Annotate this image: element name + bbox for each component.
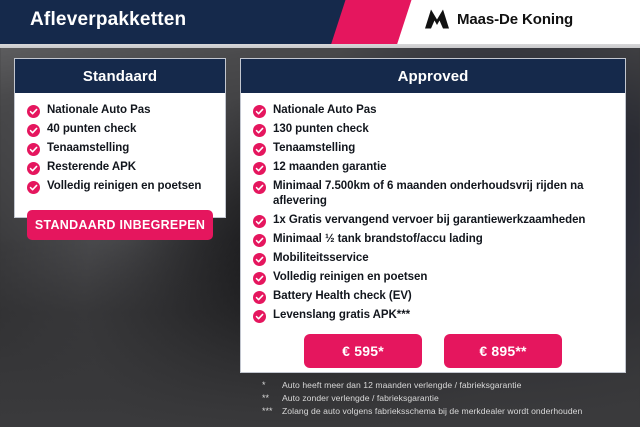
list-item: Nationale Auto Pas: [27, 103, 215, 118]
card-standaard-title: Standaard: [83, 68, 157, 85]
brand-name: Maas-De Koning: [457, 11, 573, 28]
footnote-row: *** Zolang de auto volgens fabrieksschem…: [262, 405, 632, 417]
list-item: Levenslang gratis APK***: [253, 308, 615, 323]
maas-de-koning-m-logo-icon: [425, 9, 449, 29]
check-circle-icon: [27, 105, 40, 118]
page-title: Afleverpakketten: [30, 9, 186, 31]
check-circle-icon: [253, 181, 266, 194]
list-item: 1x Gratis vervangend vervoer bij garanti…: [253, 213, 615, 228]
check-circle-icon: [253, 253, 266, 266]
check-circle-icon: [27, 124, 40, 137]
list-item: 12 maanden garantie: [253, 160, 615, 175]
list-item-label: Minimaal ½ tank brandstof/accu lading: [273, 232, 483, 247]
list-item: Tenaamstelling: [253, 141, 615, 156]
footnote-text: Auto heeft meer dan 12 maanden verlengde…: [282, 379, 521, 391]
check-circle-icon: [253, 143, 266, 156]
check-circle-icon: [253, 162, 266, 175]
list-item-label: Minimaal 7.500km of 6 maanden onderhouds…: [273, 179, 615, 209]
check-circle-icon: [253, 272, 266, 285]
list-item-label: Volledig reinigen en poetsen: [47, 179, 201, 194]
standaard-inbegrepen-button[interactable]: STANDAARD INBEGREPEN: [27, 210, 213, 240]
price-button-895[interactable]: € 895**: [444, 334, 562, 368]
card-approved-title: Approved: [398, 68, 469, 85]
approved-feature-list: Nationale Auto Pas 130 punten check Tena…: [241, 103, 625, 323]
list-item-label: Battery Health check (EV): [273, 289, 412, 304]
check-circle-icon: [253, 310, 266, 323]
standaard-feature-list: Nationale Auto Pas 40 punten check Tenaa…: [15, 103, 225, 194]
check-circle-icon: [253, 234, 266, 247]
footnote-row: * Auto heeft meer dan 12 maanden verleng…: [262, 379, 632, 391]
check-circle-icon: [27, 143, 40, 156]
footnote-text: Auto zonder verlengde / fabrieksgarantie: [282, 392, 439, 404]
list-item: Nationale Auto Pas: [253, 103, 615, 118]
list-item: 130 punten check: [253, 122, 615, 137]
list-item-label: 130 punten check: [273, 122, 369, 137]
check-circle-icon: [253, 291, 266, 304]
price-button-row: € 595* € 895**: [241, 334, 625, 368]
list-item-label: Resterende APK: [47, 160, 136, 175]
card-approved-body: Nationale Auto Pas 130 punten check Tena…: [241, 93, 625, 368]
footnotes: * Auto heeft meer dan 12 maanden verleng…: [262, 379, 632, 418]
check-circle-icon: [253, 215, 266, 228]
list-item-label: Levenslang gratis APK***: [273, 308, 410, 323]
card-standaard: Standaard Nationale Auto Pas 40 punten c…: [14, 58, 226, 218]
list-item-label: Tenaamstelling: [47, 141, 129, 156]
header-underline: [0, 44, 640, 48]
list-item-label: Tenaamstelling: [273, 141, 355, 156]
list-item-label: Nationale Auto Pas: [273, 103, 376, 118]
footnote-marker: **: [262, 392, 276, 404]
card-approved-header: Approved: [241, 59, 625, 93]
list-item: Minimaal ½ tank brandstof/accu lading: [253, 232, 615, 247]
check-circle-icon: [253, 105, 266, 118]
list-item: Volledig reinigen en poetsen: [27, 179, 215, 194]
list-item: Mobiliteitsservice: [253, 251, 615, 266]
check-circle-icon: [27, 162, 40, 175]
list-item-label: 12 maanden garantie: [273, 160, 386, 175]
footnote-row: ** Auto zonder verlengde / fabrieksgaran…: [262, 392, 632, 404]
page-header: Afleverpakketten Maas-De Koning: [0, 0, 640, 44]
list-item: Resterende APK: [27, 160, 215, 175]
list-item-label: 40 punten check: [47, 122, 136, 137]
list-item-label: Mobiliteitsservice: [273, 251, 369, 266]
list-item: Battery Health check (EV): [253, 289, 615, 304]
list-item: Tenaamstelling: [27, 141, 215, 156]
card-standaard-header: Standaard: [15, 59, 225, 93]
list-item-label: Volledig reinigen en poetsen: [273, 270, 427, 285]
check-circle-icon: [27, 181, 40, 194]
delivery-packages-slide: Afleverpakketten Maas-De Koning Standaar…: [0, 0, 640, 427]
list-item: Minimaal 7.500km of 6 maanden onderhouds…: [253, 179, 615, 209]
footnote-marker: ***: [262, 405, 276, 417]
footnote-marker: *: [262, 379, 276, 391]
check-circle-icon: [253, 124, 266, 137]
card-approved: Approved Nationale Auto Pas 130 punten c…: [240, 58, 626, 373]
price-button-595[interactable]: € 595*: [304, 334, 422, 368]
standaard-button-wrap: STANDAARD INBEGREPEN: [15, 198, 225, 240]
list-item: Volledig reinigen en poetsen: [253, 270, 615, 285]
list-item-label: Nationale Auto Pas: [47, 103, 150, 118]
card-standaard-body: Nationale Auto Pas 40 punten check Tenaa…: [15, 93, 225, 240]
list-item: 40 punten check: [27, 122, 215, 137]
footnote-text: Zolang de auto volgens fabrieksschema bi…: [282, 405, 582, 417]
list-item-label: 1x Gratis vervangend vervoer bij garanti…: [273, 213, 585, 228]
brand-lockup: Maas-De Koning: [425, 9, 573, 29]
